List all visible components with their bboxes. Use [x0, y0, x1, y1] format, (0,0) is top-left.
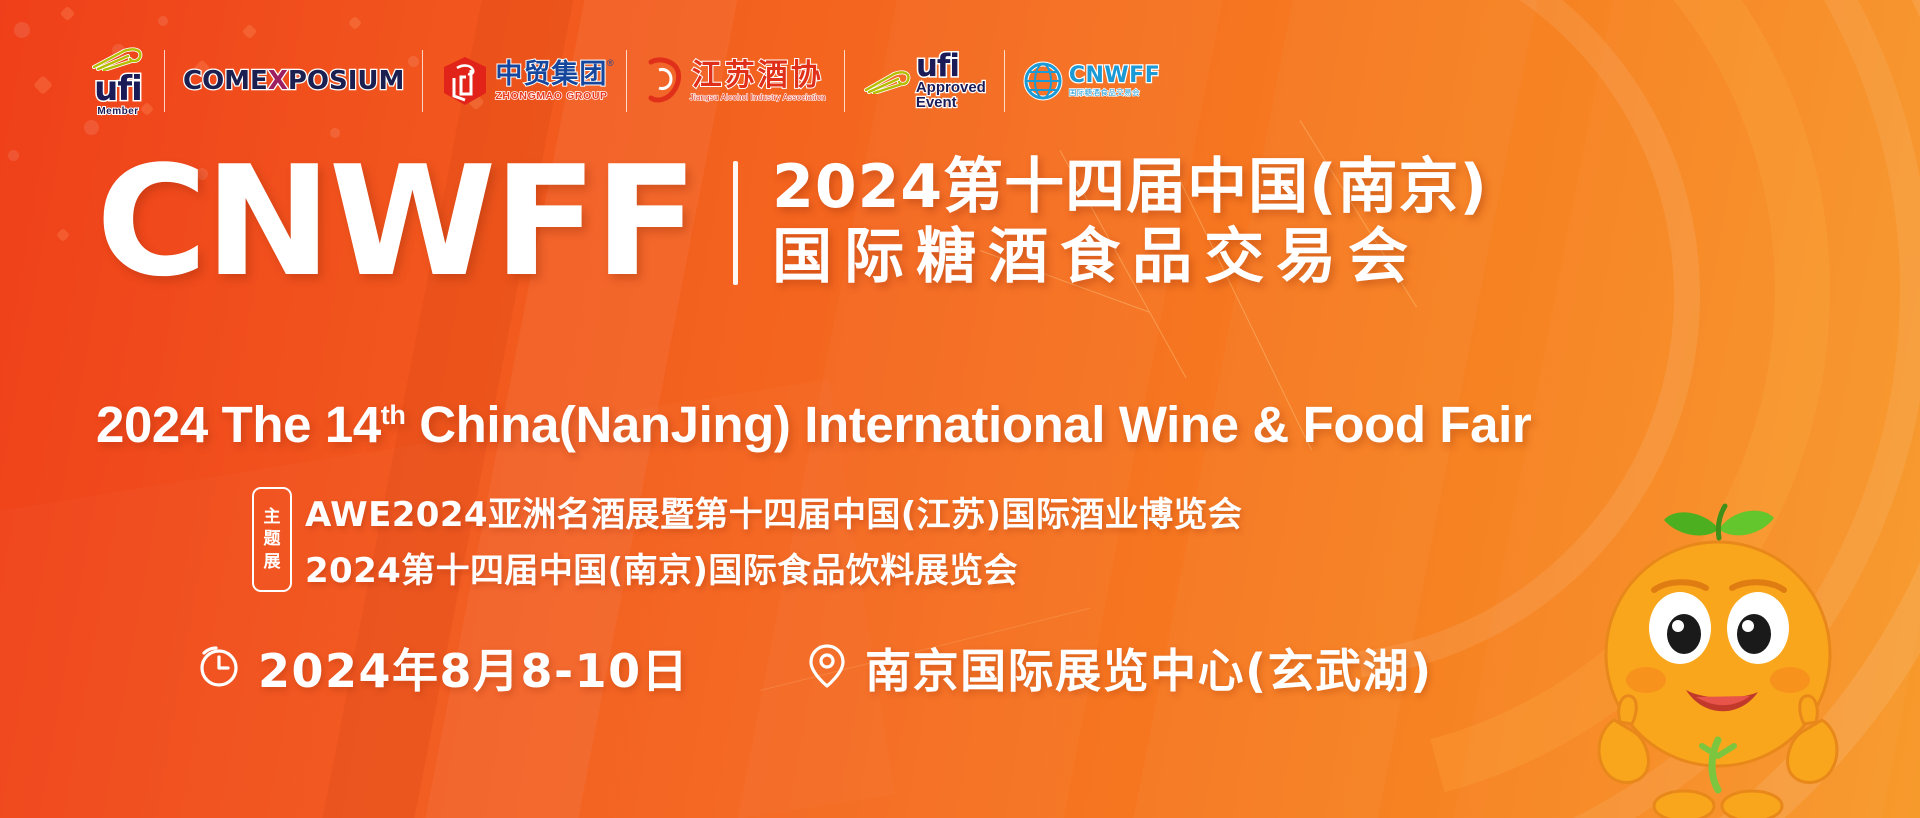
logo-ufi-member[interactable]: ufi Member [72, 36, 164, 126]
event-banner: ufi Member COMEXPOSIUM [0, 0, 1920, 818]
chinese-title: 2024第十四届中国(南京) 国际糖酒食品交易会 [772, 156, 1488, 289]
main-title-row: CNWFF 2024第十四届中国(南京) 国际糖酒食品交易会 [96, 156, 1488, 289]
chinese-title-line1: 2024第十四届中国(南京) [772, 156, 1488, 220]
clock-icon [196, 644, 240, 693]
theme-line-2: 2024第十四届中国(南京)国际食品饮料展览会 [305, 543, 1242, 592]
title-divider [733, 161, 738, 285]
ufi-wordmark: ufi [94, 72, 142, 106]
event-location: 南京国际展览中心(玄武湖) [865, 635, 1433, 701]
english-title: 2024 The 14th China(NanJing) Internation… [96, 395, 1531, 454]
theme-line-1: AWE2024亚洲名酒展暨第十四届中国(江苏)国际酒业博览会 [305, 487, 1242, 536]
event-date: 2024年8月8-10日 [258, 635, 689, 701]
english-title-ordinal: th [381, 400, 406, 430]
logo-zhongmao-group[interactable]: 中贸集团 ZHONGMAO GROUP ® [423, 36, 625, 126]
theme-badge: 主 题 展 [252, 487, 292, 592]
ufi-approved-wordmark: ufi [916, 51, 986, 81]
chinese-title-line2: 国际糖酒食品交易会 [772, 226, 1488, 290]
english-title-suffix: China(NanJing) International Wine & Food… [405, 396, 1531, 453]
jiangsu-chinese: 江苏酒协 [692, 61, 824, 91]
ufi-approved-wing-icon [863, 68, 913, 94]
logo-jiangsu-association[interactable]: 江苏酒协 Jiangsu Alcohol Industry Associatio… [627, 36, 844, 126]
orange-mascot [1568, 494, 1868, 818]
english-title-prefix: 2024 The 14 [96, 396, 381, 453]
ufi-wing-icon [90, 45, 146, 71]
logo-comexposium[interactable]: COMEXPOSIUM [165, 36, 422, 126]
zhongmao-mark-icon [441, 56, 489, 106]
cnwff-wordmark: CNWFF [96, 157, 695, 288]
theme-badge-char-1: 主 [264, 507, 281, 527]
theme-exhibition-block: 主 题 展 AWE2024亚洲名酒展暨第十四届中国(江苏)国际酒业博览会 202… [252, 487, 1242, 592]
comexposium-part2: POSIUM [288, 66, 405, 96]
zhongmao-english: ZHONGMAO GROUP [495, 91, 607, 102]
cnwff-badge-wordmark: CNWFF [1069, 65, 1160, 87]
comexposium-x: X [268, 66, 288, 96]
event-location-item: 南京国际展览中心(玄武湖) [807, 635, 1433, 701]
jiangsu-english: Jiangsu Alcohol Industry Association [690, 94, 826, 102]
registered-mark: ® [607, 59, 614, 68]
ufi-member-label: Member [97, 107, 138, 117]
comexposium-part1: COME [183, 66, 268, 96]
theme-badge-char-2: 题 [264, 529, 281, 549]
logo-ufi-approved-event[interactable]: ufi Approved Event [845, 36, 1004, 126]
theme-badge-char-3: 展 [264, 552, 281, 572]
ufi-approved-line3: Event [916, 96, 986, 111]
event-info-row: 2024年8月8-10日 南京国际展览中心(玄武湖) [196, 635, 1433, 701]
event-date-item: 2024年8月8-10日 [196, 635, 689, 701]
jiangsu-seal-icon [645, 56, 685, 106]
map-pin-icon [807, 643, 847, 694]
globe-icon [1023, 61, 1063, 101]
zhongmao-chinese: 中贸集团 [495, 61, 607, 88]
logo-cnwff-badge[interactable]: CNWFF 国际糖酒食品交易会 [1005, 36, 1178, 126]
theme-lines: AWE2024亚洲名酒展暨第十四届中国(江苏)国际酒业博览会 2024第十四届中… [305, 487, 1242, 592]
partner-logo-bar: ufi Member COMEXPOSIUM [72, 36, 1178, 126]
cnwff-badge-subtitle: 国际糖酒食品交易会 [1069, 89, 1160, 97]
